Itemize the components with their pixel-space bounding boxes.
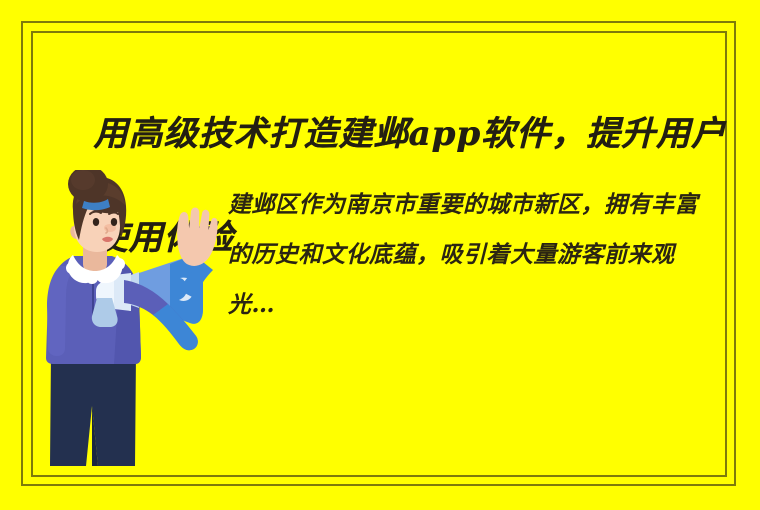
poster-canvas: 用高级技术打造建邺app软件，提升用户 使用体验 建邺区作为南京市重要的城市新区… (0, 0, 760, 510)
woman-with-megaphone-illustration (40, 170, 225, 470)
article-summary: 建邺区作为南京市重要的城市新区，拥有丰富的历史和文化底蕴，吸引着大量游客前来观光… (228, 180, 720, 330)
pants-shape (50, 353, 136, 466)
article-title-line-1: 用高级技术打造建邺app软件，提升用户 (93, 114, 726, 154)
raised-hand (177, 208, 218, 266)
